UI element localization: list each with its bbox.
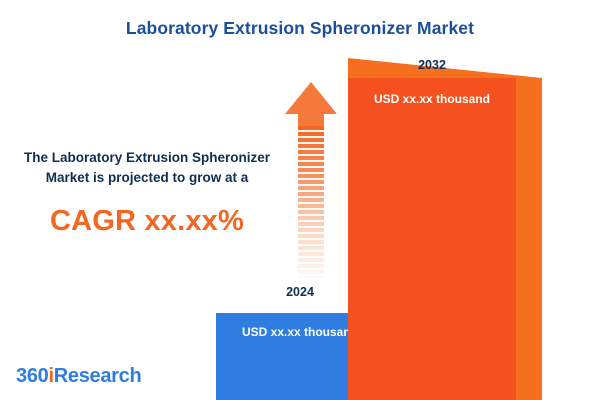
growth-statement: The Laboratory Extrusion Spheronizer Mar… [18, 148, 276, 188]
bar-value-2032: USD xx.xx thousand [348, 92, 516, 106]
up-arrow-icon [283, 80, 339, 280]
logo-suffix: Research [54, 365, 142, 387]
bar-label-2032: 2032 [348, 58, 516, 72]
chart-canvas: Laboratory Extrusion Spheronizer Market … [0, 0, 600, 400]
cagr-value: CAGR xx.xx% [18, 205, 276, 238]
bar-2032-side-face [516, 78, 542, 400]
logo-prefix: 360 [16, 365, 48, 387]
brand-logo: 360iResearch [16, 365, 141, 388]
page-title: Laboratory Extrusion Spheronizer Market [0, 18, 600, 39]
bar-2032-front-face [348, 78, 516, 400]
